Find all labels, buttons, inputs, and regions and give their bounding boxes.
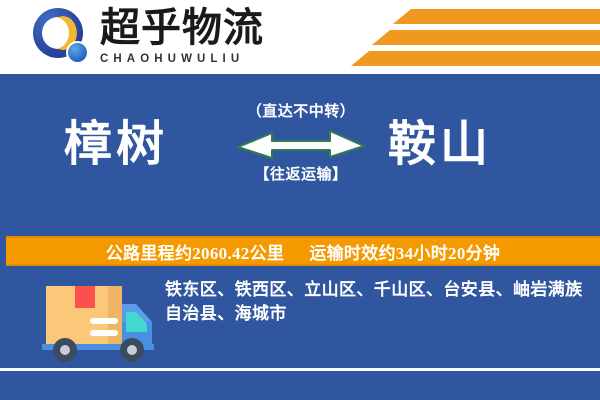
destination-city-label: 鞍山 xyxy=(388,117,492,173)
brand-block: 超乎物流 CHAOHUWULIU xyxy=(100,6,270,66)
coverage-section: 铁东区、铁西区、立山区、千山区、台安县、岫岩满族自治县、海城市 xyxy=(0,268,600,400)
distance-text: 公路里程约2060.42公里 xyxy=(106,244,284,263)
info-banner: 公路里程约2060.42公里 运输时效约34小时20分钟 xyxy=(6,236,600,266)
route-note-bottom: 【往返运输】 xyxy=(228,165,374,185)
brand-name-en: CHAOHUWULIU xyxy=(100,52,270,66)
logo-accent-dot-icon xyxy=(66,41,89,64)
origin-city-label: 樟树 xyxy=(64,117,168,173)
header-bar: 超乎物流 CHAOHUWULIU xyxy=(0,0,600,74)
coverage-districts-text: 铁东区、铁西区、立山区、千山区、台安县、岫岩满族自治县、海城市 xyxy=(165,278,585,326)
route-section: 樟树 （直达不中转） 【往返运输】 鞍山 xyxy=(0,74,600,232)
header-stripe-decoration xyxy=(330,0,600,74)
duration-text: 运输时效约34小时20分钟 xyxy=(309,244,500,263)
bidirectional-arrow-icon xyxy=(236,127,366,161)
brand-name-cn: 超乎物流 xyxy=(100,6,270,50)
stripe-2 xyxy=(372,30,600,45)
bottom-divider xyxy=(0,368,600,371)
delivery-truck-icon xyxy=(28,278,160,362)
route-note-top: （直达不中转） xyxy=(228,102,374,122)
stripe-3 xyxy=(351,51,600,66)
logistics-route-banner: 超乎物流 CHAOHUWULIU 樟树 （直达不中转） 【往返运输】 鞍山 公路… xyxy=(0,0,600,400)
stripe-1 xyxy=(393,9,600,24)
info-banner-text: 公路里程约2060.42公里 运输时效约34小时20分钟 xyxy=(106,239,500,264)
chaohu-circle-logo-icon xyxy=(33,8,93,66)
route-arrow-group: （直达不中转） 【往返运输】 xyxy=(228,102,374,206)
